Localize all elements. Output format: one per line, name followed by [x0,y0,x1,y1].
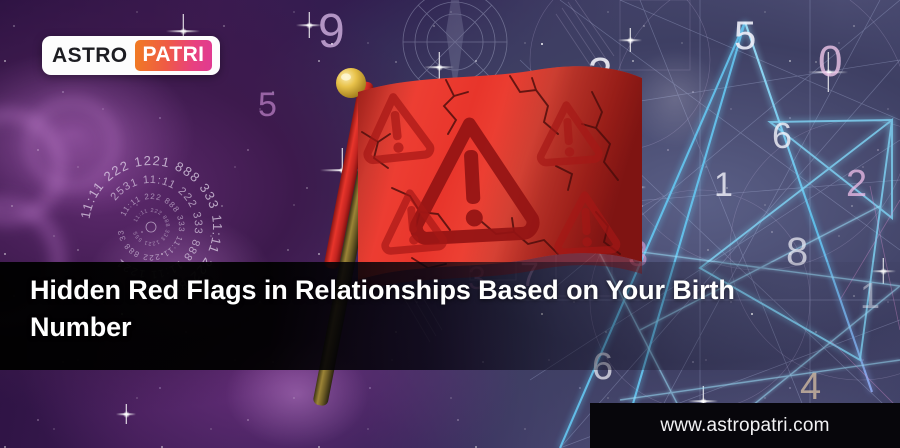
flag-cloth [358,66,642,292]
logo-text-patri: PATRI [135,40,213,71]
website-url-bar[interactable]: www.astropatri.com [590,403,900,448]
page-title: Hidden Red Flags in Relationships Based … [30,272,760,347]
blog-banner: 11:11 222 1221 888 333 11:11 222 888 253… [0,0,900,448]
logo-text-astro: ASTRO [52,44,128,68]
website-url-text: www.astropatri.com [660,415,829,437]
brand-logo[interactable]: ASTRO PATRI [42,36,220,75]
